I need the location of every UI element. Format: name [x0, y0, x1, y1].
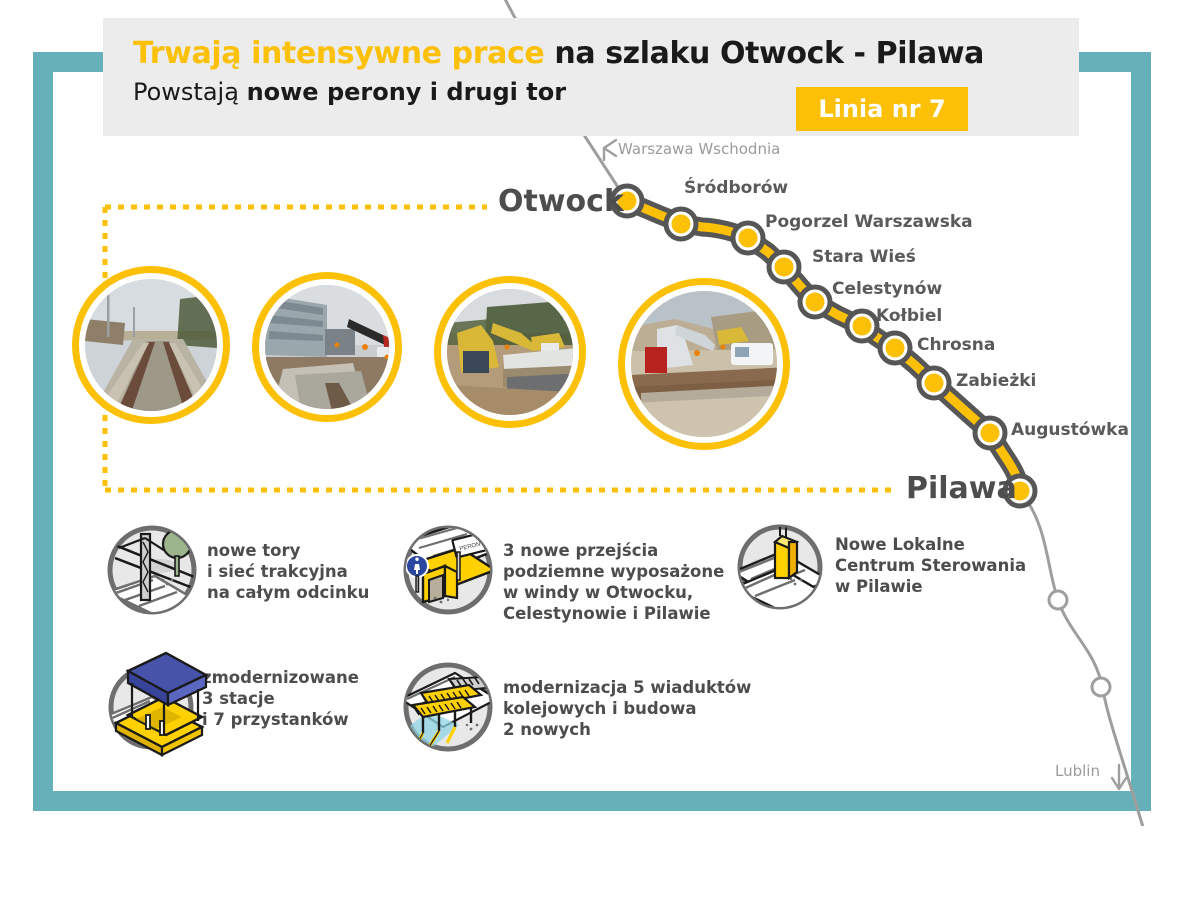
station-label-srodborow: Śródborów [684, 178, 788, 198]
title-highlight: Trwają intensywne prace [133, 36, 544, 71]
station-label-chrosna: Chrosna [917, 335, 995, 355]
photo-thumbnail-track [72, 266, 230, 424]
photo-thumbnail-track-laying [618, 278, 790, 450]
photo-image-track-laying [631, 291, 777, 437]
line-number-badge: Linia nr 7 [796, 87, 968, 131]
underpass-lift-icon: PERON 1 [399, 518, 497, 616]
station-platform-icon [98, 645, 196, 743]
station-label-kolbiel: Kołbiel [876, 306, 942, 326]
photo-image-earthworks [447, 289, 573, 415]
page-title: Trwają intensywne prace na szlaku Otwock… [133, 36, 984, 71]
title-rest: na szlaku Otwock - Pilawa [544, 36, 984, 71]
control-tower-icon [731, 512, 829, 610]
arrow-south-icon [1112, 765, 1126, 789]
feature-item-underpasses: PERON 1 3 nowe przejścia podziemne wypos… [399, 518, 724, 624]
feature-item-stations: zmodernizowane 3 stacje i 7 przystanków [98, 645, 359, 743]
viaduct-icon [399, 655, 497, 753]
route-map [0, 0, 1191, 907]
frame-border-left [33, 52, 53, 811]
subtitle-bold: nowe perony i drugi tor [247, 78, 567, 106]
station-label-stara-wies: Stara Wieś [812, 247, 916, 267]
direction-label-warszawa-wschodnia: Warszawa Wschodnia [618, 140, 780, 158]
feature-text-viaducts: modernizacja 5 wiaduktów kolejowych i bu… [497, 655, 751, 740]
feature-text-new-tracks: nowe tory i sieć trakcyjna na całym odci… [201, 518, 369, 603]
frame-border-bottom [33, 791, 1151, 811]
direction-label-lublin: Lublin [1055, 762, 1100, 780]
arrow-north-icon [604, 140, 616, 160]
feature-text-underpasses: 3 nowe przejścia podziemne wyposażone w … [497, 518, 724, 624]
station-label-celestynow: Celestynów [832, 279, 942, 299]
feature-item-viaducts: modernizacja 5 wiaduktów kolejowych i bu… [399, 655, 751, 753]
photo-thumbnail-earthworks [434, 276, 586, 428]
infographic-poster: Otwock Śródborów Pogorzel Warszawska Sta… [0, 0, 1191, 907]
station-label-augustowka: Augustówka [1011, 420, 1129, 440]
subtitle-light: Powstają [133, 78, 247, 106]
photo-thumbnail-platform-canopy [252, 272, 402, 422]
station-label-pilawa: Pilawa [906, 471, 1017, 506]
frame-border-right [1131, 52, 1151, 811]
feature-text-control-centre: Nowe Lokalne Centrum Sterowania w Pilawi… [829, 512, 1026, 597]
station-label-otwock: Otwock [498, 184, 624, 219]
feature-item-new-tracks: nowe tory i sieć trakcyjna na całym odci… [103, 518, 369, 616]
photo-image-track [85, 279, 217, 411]
footer-bar: FunduszeEuropejskie Infrastruktura i Śro… [0, 826, 1191, 907]
station-label-zabiezki: Zabieżki [956, 371, 1036, 391]
feature-item-control-centre: Nowe Lokalne Centrum Sterowania w Pilawi… [731, 512, 1026, 610]
catenary-mast-icon [103, 518, 201, 616]
page-subtitle: Powstają nowe perony i drugi tor [133, 78, 566, 106]
photo-image-platform-canopy [265, 285, 389, 409]
station-label-pogorzel-warszawska: Pogorzel Warszawska [765, 212, 973, 232]
feature-text-stations: zmodernizowane 3 stacje i 7 przystanków [196, 645, 359, 730]
